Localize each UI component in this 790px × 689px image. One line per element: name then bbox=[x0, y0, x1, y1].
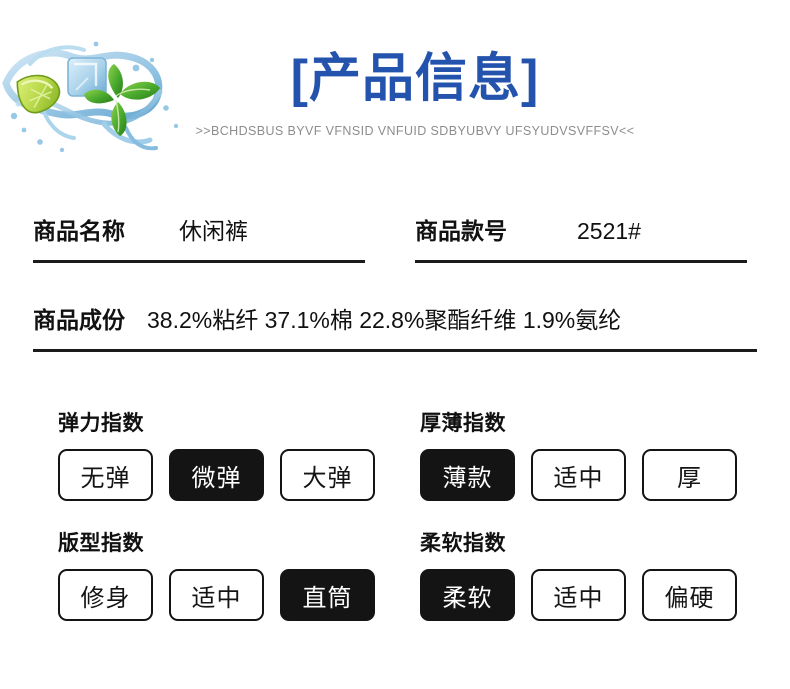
index-label-softness: 柔软指数 bbox=[420, 527, 782, 557]
index-label-elasticity: 弹力指数 bbox=[58, 407, 420, 437]
info-row-composition: 商品成份 38.2%粘纤 37.1%棉 22.8%聚酯纤维 1.9%氨纶 bbox=[0, 301, 790, 352]
info-row-name-style: 商品名称 休闲裤 商品款号 2521# bbox=[0, 212, 790, 263]
index-option-fit-1[interactable]: 适中 bbox=[169, 569, 264, 621]
header-text-group: [产品信息] >>BCHDSBUS BYVF VFNSID VNFUID SDB… bbox=[190, 48, 640, 138]
info-value-composition: 38.2%粘纤 37.1%棉 22.8%聚酯纤维 1.9%氨纶 bbox=[125, 301, 621, 335]
index-options-thickness: 薄款 适中 厚 bbox=[420, 449, 782, 501]
hero-splash-image bbox=[0, 8, 200, 173]
index-option-elasticity-0[interactable]: 无弹 bbox=[58, 449, 153, 501]
index-option-softness-0[interactable]: 柔软 bbox=[420, 569, 515, 621]
index-option-thickness-1[interactable]: 适中 bbox=[531, 449, 626, 501]
index-option-thickness-0[interactable]: 薄款 bbox=[420, 449, 515, 501]
index-block-elasticity: 弹力指数 无弹 微弹 大弹 bbox=[58, 407, 420, 501]
page-header: [产品信息] >>BCHDSBUS BYVF VFNSID VNFUID SDB… bbox=[0, 0, 790, 180]
index-options-elasticity: 无弹 微弹 大弹 bbox=[58, 449, 420, 501]
index-option-thickness-2[interactable]: 厚 bbox=[642, 449, 737, 501]
index-block-thickness: 厚薄指数 薄款 适中 厚 bbox=[420, 407, 782, 501]
info-cell-product-name: 商品名称 休闲裤 bbox=[33, 212, 365, 263]
index-option-fit-2[interactable]: 直筒 bbox=[280, 569, 375, 621]
index-option-softness-2[interactable]: 偏硬 bbox=[642, 569, 737, 621]
info-label-style-number: 商品款号 bbox=[415, 212, 507, 246]
product-info-table: 商品名称 休闲裤 商品款号 2521# 商品成份 38.2%粘纤 37.1%棉 … bbox=[0, 212, 790, 352]
info-cell-style-number: 商品款号 2521# bbox=[415, 212, 747, 263]
index-block-fit: 版型指数 修身 适中 直筒 bbox=[58, 527, 420, 621]
index-option-elasticity-1[interactable]: 微弹 bbox=[169, 449, 264, 501]
index-label-fit: 版型指数 bbox=[58, 527, 420, 557]
index-option-fit-0[interactable]: 修身 bbox=[58, 569, 153, 621]
info-column-gap bbox=[365, 212, 415, 263]
product-index-grid: 弹力指数 无弹 微弹 大弹 厚薄指数 薄款 适中 厚 版型指数 修身 适中 直筒… bbox=[0, 407, 790, 647]
index-option-softness-1[interactable]: 适中 bbox=[531, 569, 626, 621]
page-title: [产品信息] bbox=[190, 48, 640, 110]
info-cell-composition: 商品成份 38.2%粘纤 37.1%棉 22.8%聚酯纤维 1.9%氨纶 bbox=[33, 301, 757, 352]
index-label-thickness: 厚薄指数 bbox=[420, 407, 782, 437]
index-options-fit: 修身 适中 直筒 bbox=[58, 569, 420, 621]
info-label-composition: 商品成份 bbox=[33, 301, 125, 335]
info-value-product-name: 休闲裤 bbox=[125, 212, 248, 246]
info-label-product-name: 商品名称 bbox=[33, 212, 125, 246]
page-subtitle: >>BCHDSBUS BYVF VFNSID VNFUID SDBYUBVY U… bbox=[190, 124, 640, 138]
info-value-style-number: 2521# bbox=[507, 218, 641, 245]
index-option-elasticity-2[interactable]: 大弹 bbox=[280, 449, 375, 501]
index-block-softness: 柔软指数 柔软 适中 偏硬 bbox=[420, 527, 782, 621]
index-options-softness: 柔软 适中 偏硬 bbox=[420, 569, 782, 621]
